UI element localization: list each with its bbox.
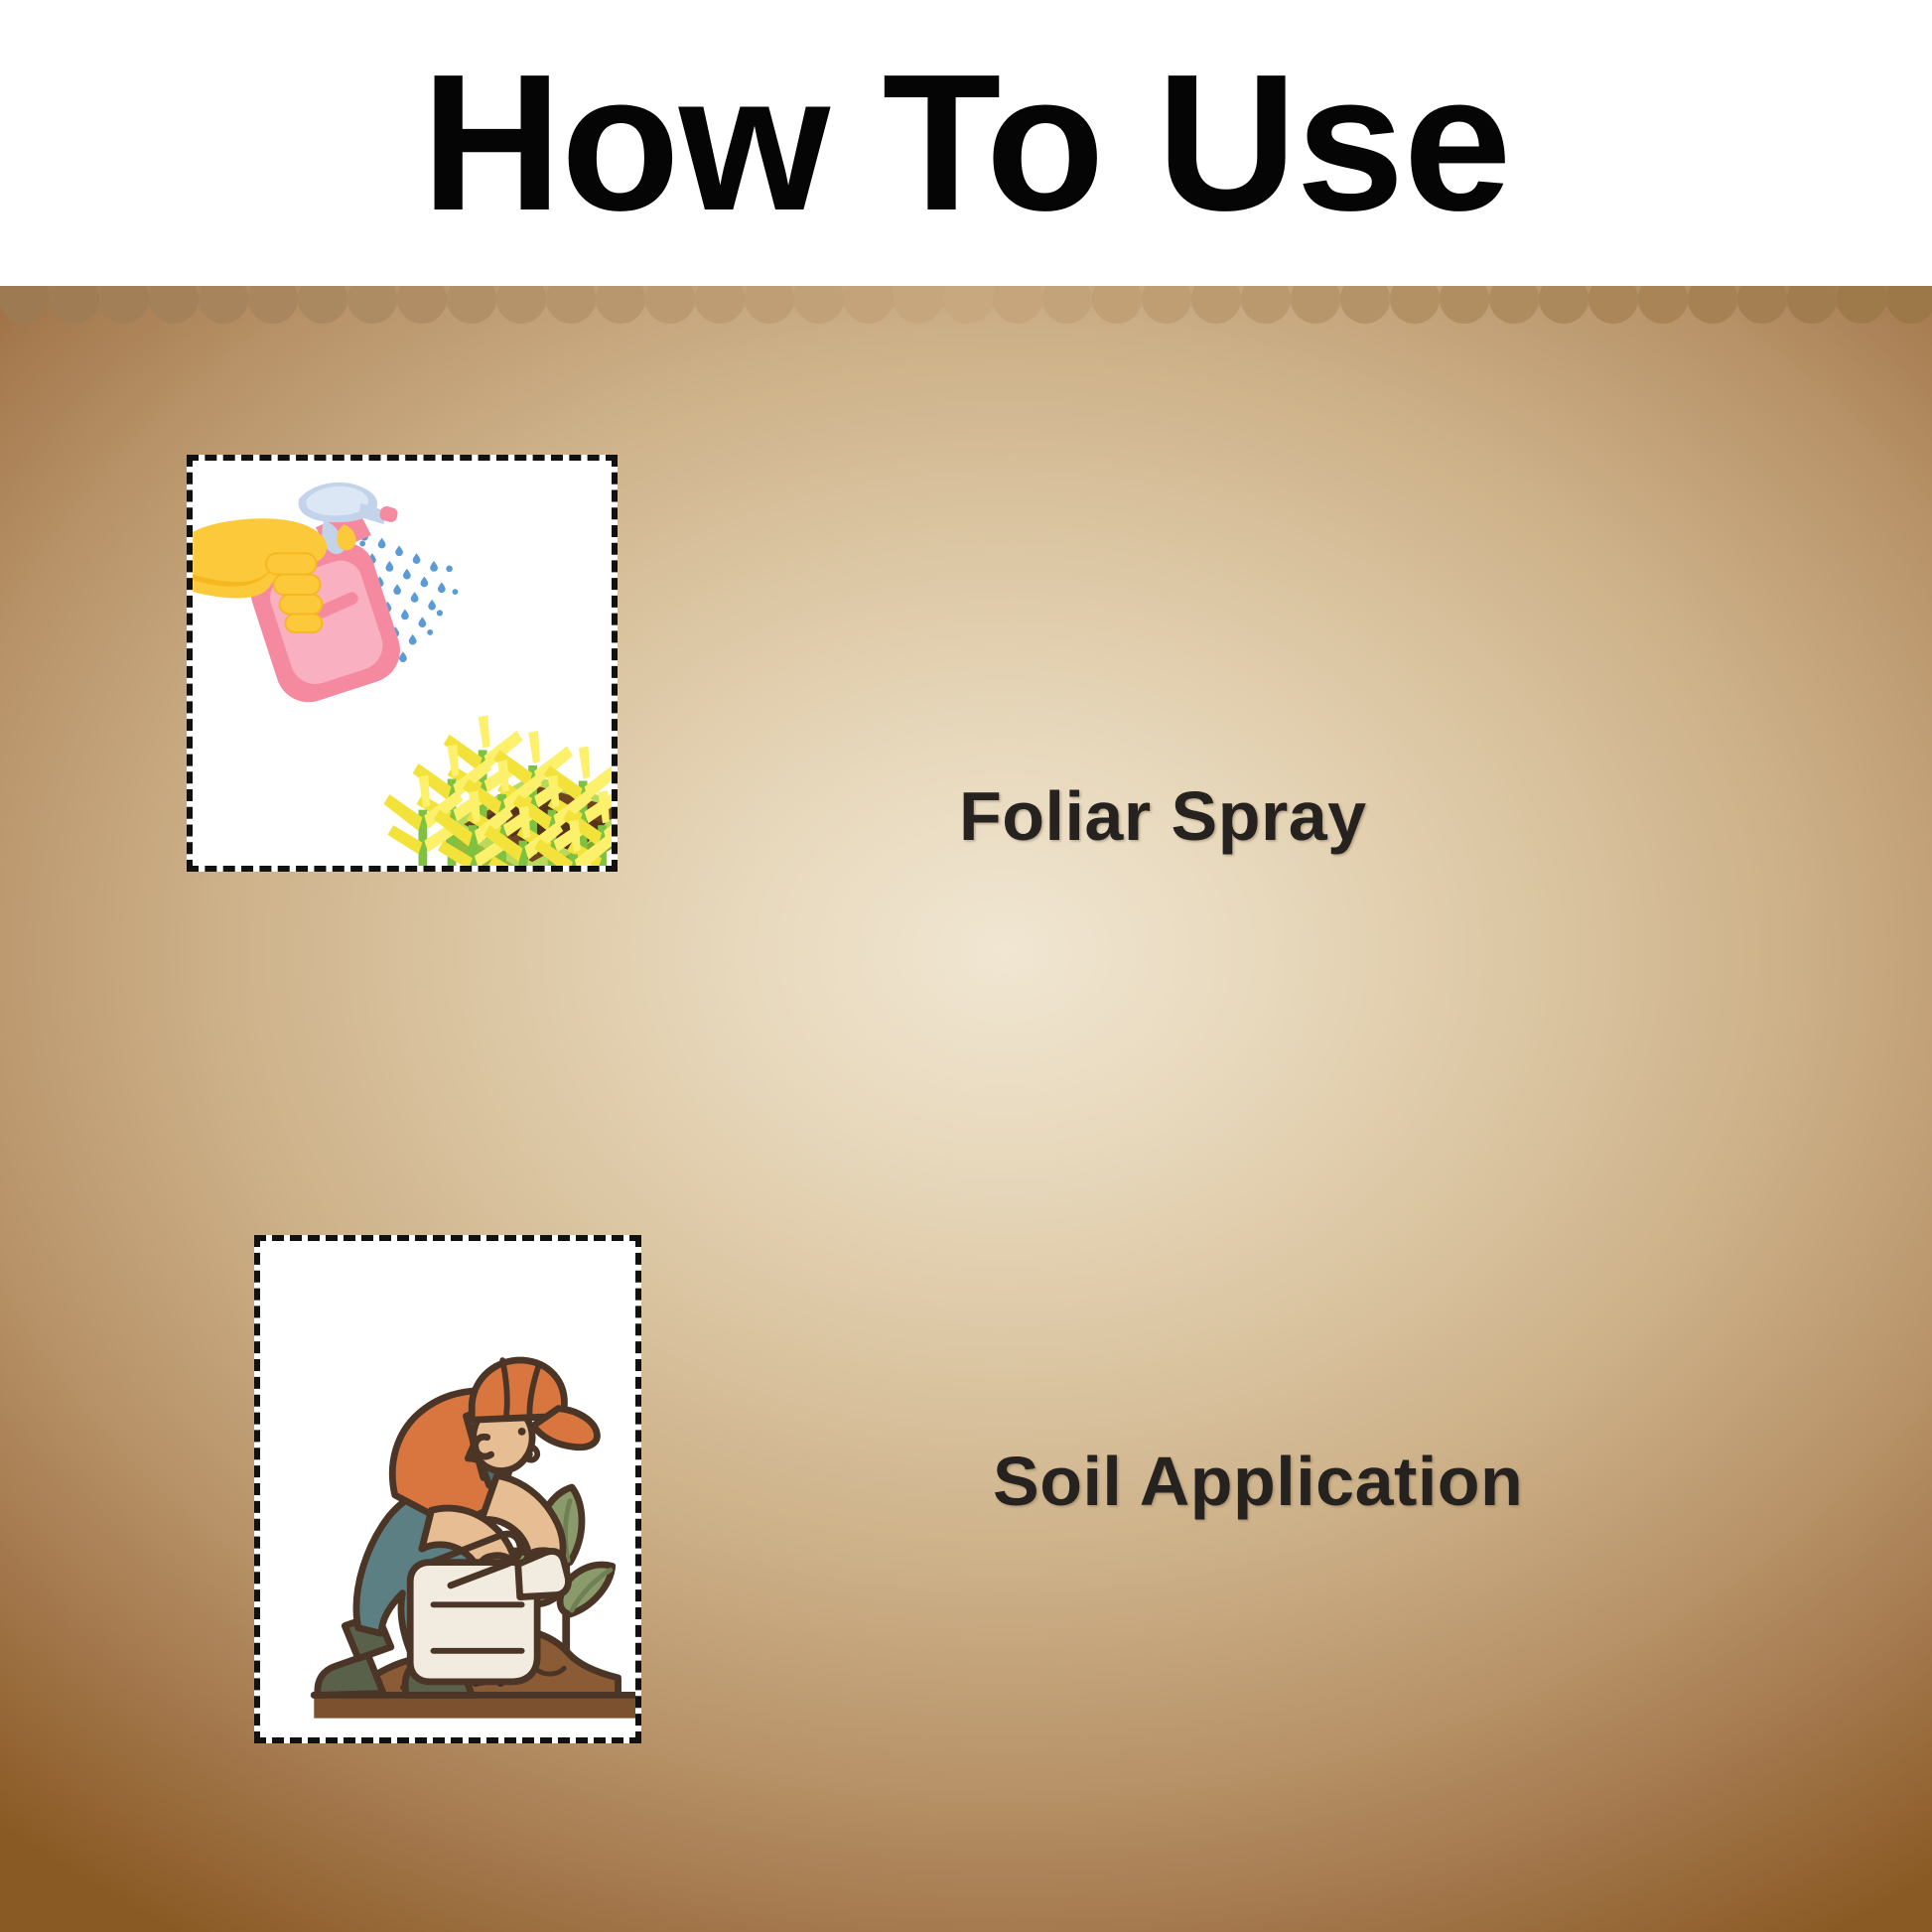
farmer-pouring-fertilizer-on-seedling-icon: [260, 1241, 635, 1737]
poster-root: How To Use: [0, 0, 1932, 1932]
content-area: Foliar Spray: [0, 0, 1932, 1932]
row-label-foliar-spray: Foliar Spray: [959, 776, 1367, 856]
row-label-soil-application: Soil Application: [993, 1442, 1523, 1521]
spray-bottle-over-crop-field-icon: [193, 461, 612, 866]
illustration-card-foliar-spray[interactable]: [187, 455, 618, 872]
illustration-card-soil-application[interactable]: [254, 1235, 641, 1743]
